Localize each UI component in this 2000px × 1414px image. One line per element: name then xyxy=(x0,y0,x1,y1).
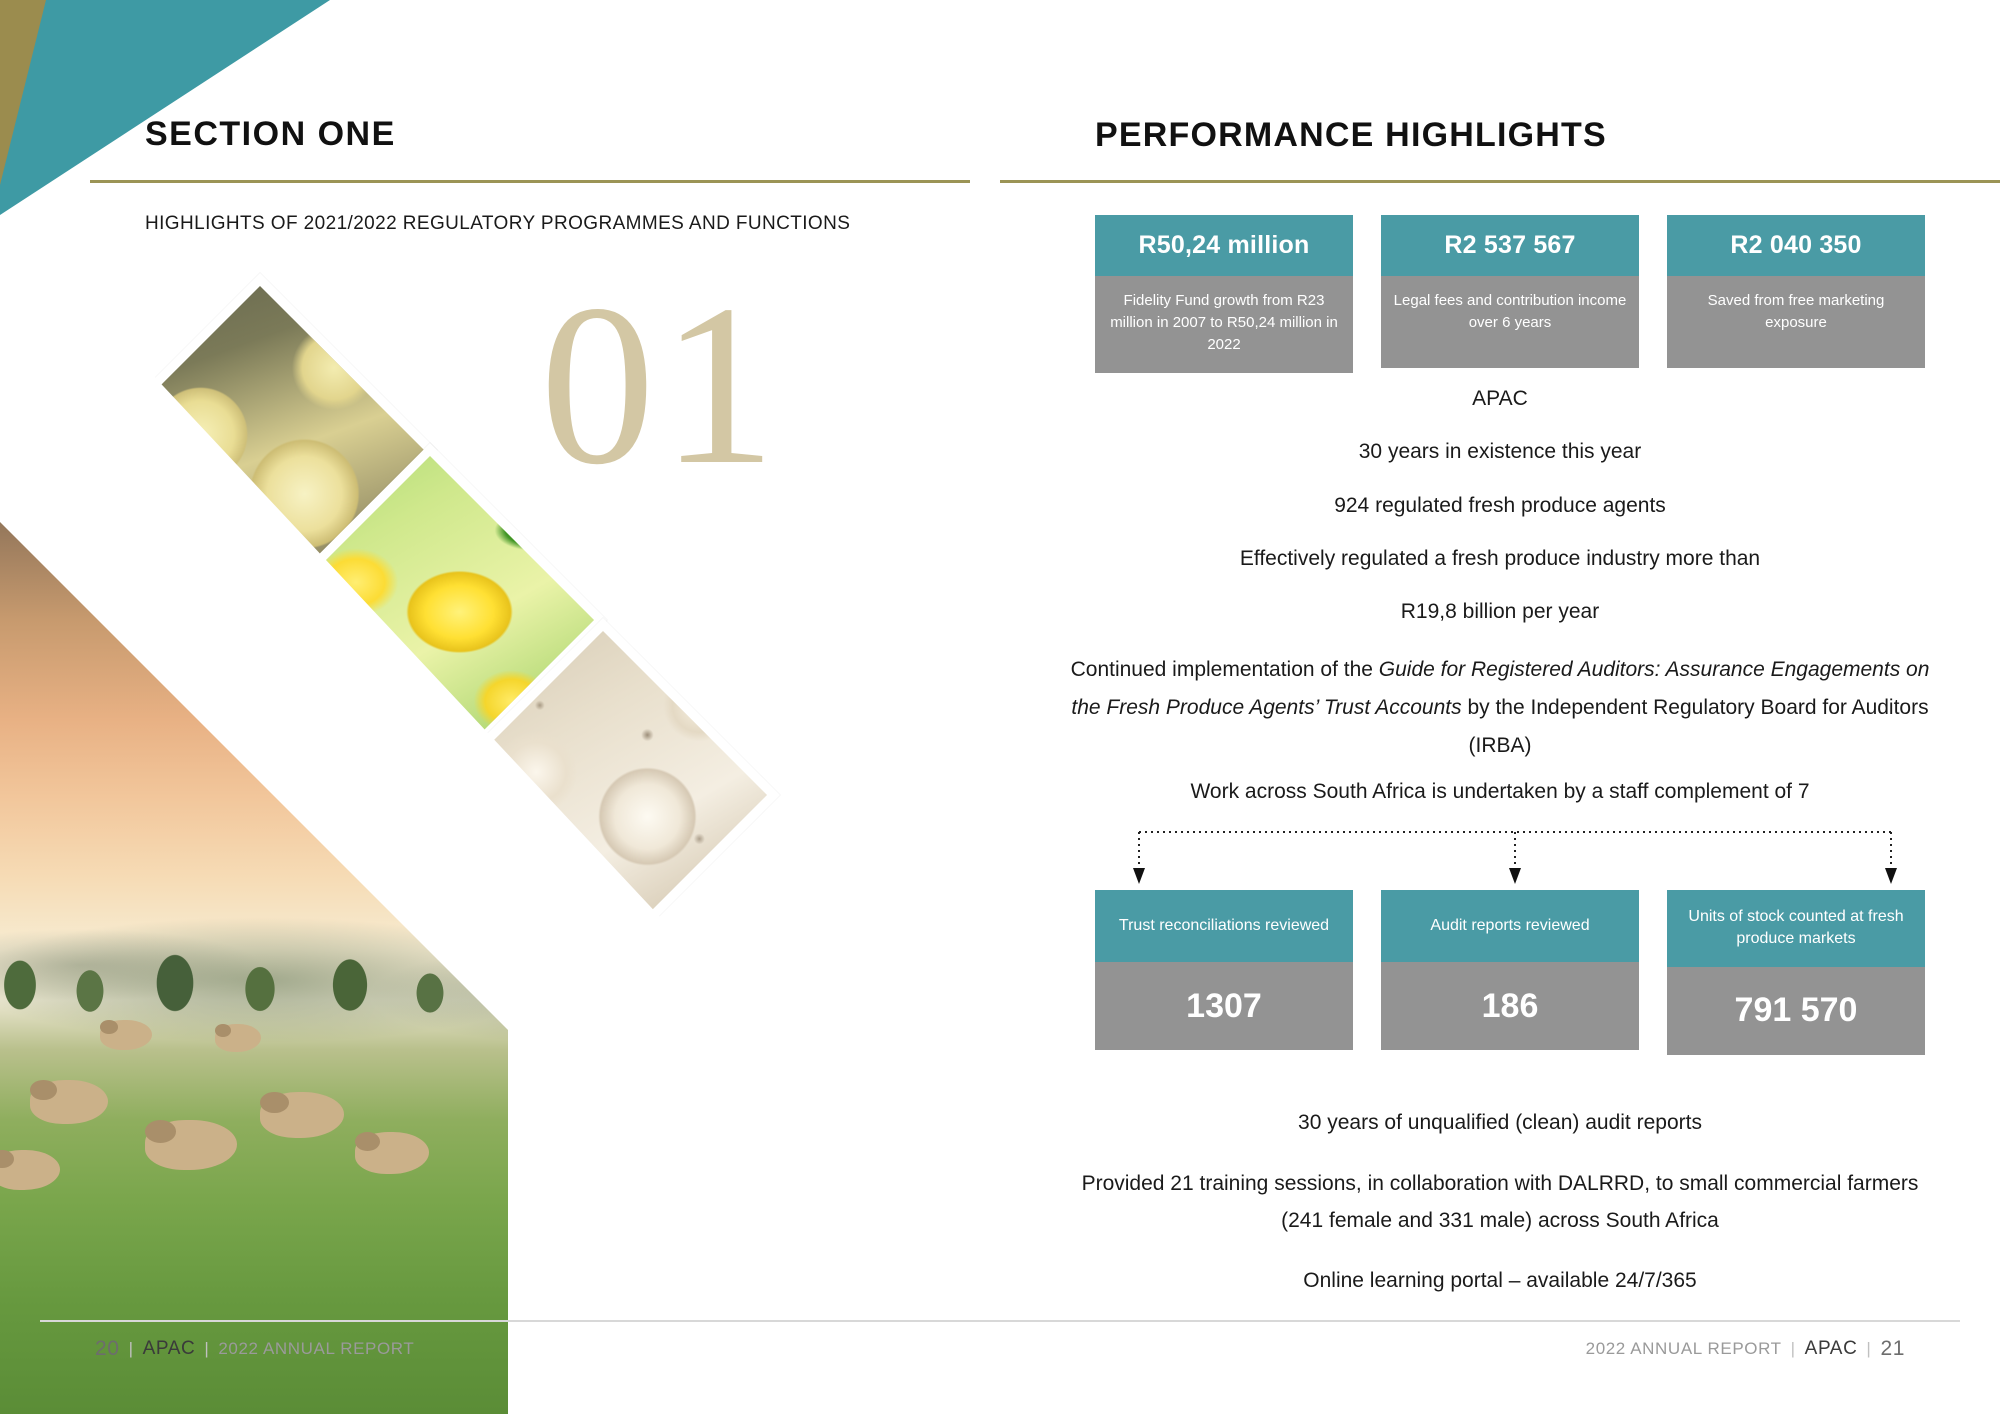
metric-card: Audit reports reviewed 186 xyxy=(1381,890,1639,1055)
footer-left: 20 | APAC | 2022 ANNUAL REPORT xyxy=(95,1337,414,1361)
footer-separator: | xyxy=(204,1339,209,1359)
irba-paragraph: Continued implementation of the Guide fo… xyxy=(1070,651,1930,764)
stat-card-caption: Legal fees and contribution income over … xyxy=(1381,276,1639,368)
footer-page-number: 20 xyxy=(95,1337,120,1361)
stat-card: R2 040 350 Saved from free marketing exp… xyxy=(1667,215,1925,373)
right-page: PERFORMANCE HIGHLIGHTS R50,24 million Fi… xyxy=(1000,0,2000,1414)
performance-stat-cards: R50,24 million Fidelity Fund growth from… xyxy=(1095,215,1935,373)
stat-card: R2 537 567 Legal fees and contribution i… xyxy=(1381,215,1639,373)
irba-text-before: Continued implementation of the xyxy=(1071,658,1379,681)
stat-card-caption: Saved from free marketing exposure xyxy=(1667,276,1925,368)
metric-card-value: 791 570 xyxy=(1667,967,1925,1055)
body-line: APAC xyxy=(1070,385,1930,412)
body-line: R19,8 billion per year xyxy=(1070,598,1930,625)
stat-card-value: R2 537 567 xyxy=(1381,215,1639,276)
metric-card-value: 1307 xyxy=(1095,962,1353,1050)
footer-right: 2022 ANNUAL REPORT | APAC | 21 xyxy=(1586,1337,1905,1361)
stat-card-value: R50,24 million xyxy=(1095,215,1353,276)
bottom-line: Provided 21 training sessions, in collab… xyxy=(1070,1166,1930,1240)
stat-card: R50,24 million Fidelity Fund growth from… xyxy=(1095,215,1353,373)
metric-card: Trust reconciliations reviewed 1307 xyxy=(1095,890,1353,1055)
staff-complement-line: Work across South Africa is undertaken b… xyxy=(1070,780,1930,804)
footer-brand: APAC xyxy=(1805,1338,1858,1360)
metric-card-label: Trust reconciliations reviewed xyxy=(1095,890,1353,962)
footer-page-number: 21 xyxy=(1880,1337,1905,1361)
page-title: PERFORMANCE HIGHLIGHTS xyxy=(1095,116,1607,155)
footer-separator: | xyxy=(1866,1339,1871,1359)
section-number: 01 xyxy=(540,270,782,500)
metric-card: Units of stock counted at fresh produce … xyxy=(1667,890,1925,1055)
footer-separator: | xyxy=(1791,1339,1796,1359)
arrow-head-icon xyxy=(1885,868,1897,884)
stat-card-caption: Fidelity Fund growth from R23 million in… xyxy=(1095,276,1353,373)
metric-card-value: 186 xyxy=(1381,962,1639,1050)
footer-report-name: 2022 ANNUAL REPORT xyxy=(218,1339,414,1359)
bottom-line: Online learning portal – available 24/7/… xyxy=(1070,1263,1930,1300)
connector-arrows xyxy=(1095,828,1935,890)
section-subtitle: HIGHLIGHTS OF 2021/2022 REGULATORY PROGR… xyxy=(145,213,850,235)
left-page: 01 SECTION ONE HIGHLIGHTS OF 2021/2022 R… xyxy=(0,0,1000,1414)
section-title: SECTION ONE xyxy=(145,115,396,154)
arrow-head-icon xyxy=(1133,868,1145,884)
highlights-body: APAC 30 years in existence this year 924… xyxy=(1070,385,1930,775)
body-line: Effectively regulated a fresh produce in… xyxy=(1070,545,1930,572)
body-line: 924 regulated fresh produce agents xyxy=(1070,492,1930,519)
footer-separator: | xyxy=(129,1339,134,1359)
bottom-line: 30 years of unqualified (clean) audit re… xyxy=(1070,1105,1930,1142)
footer-report-name: 2022 ANNUAL REPORT xyxy=(1586,1339,1782,1359)
right-header-rule xyxy=(1000,180,2000,183)
stat-card-value: R2 040 350 xyxy=(1667,215,1925,276)
body-line: 30 years in existence this year xyxy=(1070,438,1930,465)
footer-rule-right xyxy=(1000,1320,1960,1322)
left-header-rule xyxy=(90,180,970,183)
highlights-bottom: 30 years of unqualified (clean) audit re… xyxy=(1070,1105,1930,1324)
metric-card-label: Audit reports reviewed xyxy=(1381,890,1639,962)
irba-text-after: by the Independent Regulatory Board for … xyxy=(1462,696,1929,757)
metric-cards: Trust reconciliations reviewed 1307 Audi… xyxy=(1095,890,1935,1055)
metric-card-label: Units of stock counted at fresh produce … xyxy=(1667,890,1925,967)
footer-rule-left xyxy=(40,1320,1000,1322)
footer-brand: APAC xyxy=(143,1338,196,1360)
arrow-head-icon xyxy=(1509,868,1521,884)
